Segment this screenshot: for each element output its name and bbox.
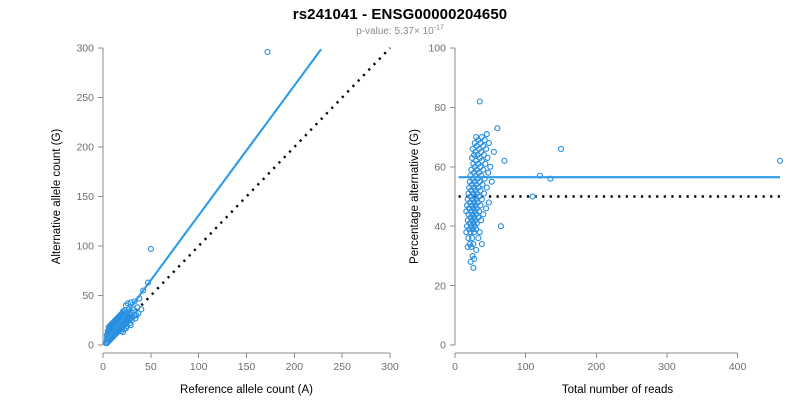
x-tick-label: 100 [517,361,535,373]
data-point [488,164,493,169]
x-tick-label: 300 [658,361,676,373]
data-point [470,146,475,151]
x-tick-label: 250 [333,361,351,373]
data-point [485,155,490,160]
y-tick-label: 200 [76,142,94,154]
data-point [489,179,494,184]
allele-counts-scatter-plot: 050100150200250300050100150200250300Refe… [0,0,400,400]
data-point [558,146,563,151]
reference-line [120,48,390,327]
data-points [103,49,270,345]
data-point [486,170,491,175]
data-point [483,161,488,166]
data-point [778,158,783,163]
panel-allele-counts: 050100150200250300050100150200250300Refe… [0,0,400,400]
data-point [486,141,491,146]
y-tick-label: 150 [76,191,94,203]
y-tick-label: 60 [434,162,446,174]
data-point [148,246,153,251]
y-tick-label: 40 [434,221,446,233]
y-tick-label: 20 [434,280,446,292]
x-axis-label: Total number of reads [562,384,673,396]
x-tick-label: 400 [729,361,747,373]
y-tick-label: 50 [82,290,94,302]
data-point [484,146,489,151]
data-point [495,126,500,131]
y-axis: 020406080100 [428,43,455,352]
y-tick-label: 80 [434,102,446,114]
data-point [484,132,489,137]
x-axis: 050100150200250300 [100,353,399,373]
y-tick-label: 300 [76,43,94,55]
data-point [265,49,270,54]
data-point [468,259,473,264]
x-tick-label: 150 [238,361,256,373]
data-point [477,99,482,104]
data-point [530,194,535,199]
data-point [469,236,474,241]
data-points [464,99,783,270]
x-tick-label: 0 [452,361,458,373]
x-tick-label: 100 [190,361,208,373]
x-tick-label: 300 [381,361,399,373]
data-point [484,206,489,211]
x-axis-label: Reference allele count (A) [180,384,313,396]
data-point [477,230,482,235]
data-point [486,200,491,205]
y-axis-label: Alternative allele count (G) [51,129,63,265]
x-tick-label: 200 [286,361,304,373]
y-tick-label: 100 [428,43,446,55]
data-point [476,236,481,241]
data-point [471,265,476,270]
data-point [491,149,496,154]
data-point [481,212,486,217]
y-tick-label: 100 [76,241,94,253]
y-axis: 050100150200250300 [76,43,103,352]
y-axis-label: Percentage alternative (G) [409,129,421,264]
x-tick-label: 200 [588,361,606,373]
data-point [484,185,489,190]
x-tick-label: 50 [145,361,157,373]
percentage-alternative-scatter-plot: 0204060801000100200300400Total number of… [400,0,800,400]
data-point [502,158,507,163]
panel-percentage-alternative: 0204060801000100200300400Total number of… [400,0,800,400]
x-tick-label: 0 [100,361,106,373]
plot-canvas: rs241041 - ENSG00000204650 p-value: 5.37… [0,0,800,400]
y-tick-label: 0 [440,340,446,352]
data-point [481,191,486,196]
data-point [469,167,474,172]
x-axis: 0100200300400 [452,353,746,373]
fit-line [106,49,321,341]
y-tick-label: 250 [76,92,94,104]
data-point [474,247,479,252]
data-point [479,242,484,247]
y-tick-label: 0 [88,340,94,352]
data-point [498,224,503,229]
